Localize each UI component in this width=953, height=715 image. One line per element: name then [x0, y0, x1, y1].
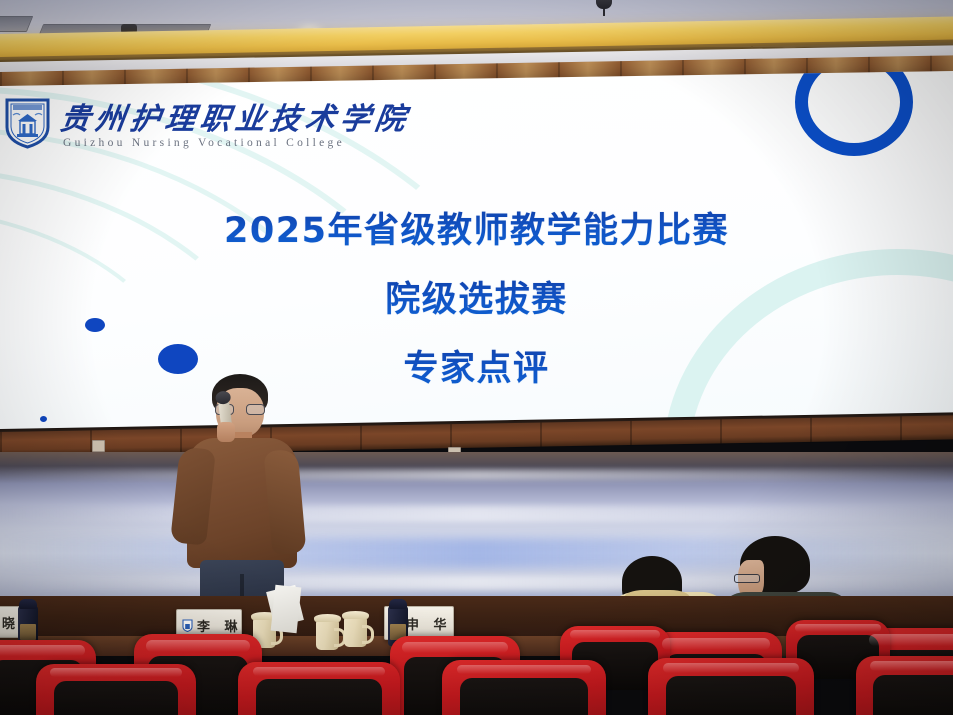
teacup	[316, 620, 339, 650]
auditorium-seat	[36, 664, 196, 715]
presenter-papers	[271, 585, 302, 633]
auditorium-seat	[238, 662, 400, 715]
projection-screen: 贵州护理职业技术学院 Guizhou Nursing Vocational Co…	[0, 71, 953, 439]
shield-crest-icon	[182, 619, 193, 632]
slide-titles: 2025年省级教师教学能力比赛 院级选拔赛 专家点评 2024.12.12	[0, 86, 953, 439]
presenter-hand	[217, 422, 235, 442]
auditorium-seat	[856, 656, 953, 715]
teacup	[344, 617, 367, 647]
auditorium-seat	[648, 658, 814, 715]
glasses-icon	[734, 574, 760, 583]
auditorium-seat	[442, 660, 606, 715]
slide-title-line-2: 院级选拔赛	[0, 271, 953, 322]
slide-title-line-3: 专家点评	[0, 340, 953, 391]
nameplate-label: 申 华	[406, 614, 452, 633]
auditorium-photo: 贵州护理职业技术学院 Guizhou Nursing Vocational Co…	[0, 0, 953, 715]
wall-outlet	[92, 440, 105, 452]
slide-title-line-1: 2025年省级教师教学能力比赛	[0, 202, 953, 253]
nameplate-label: 李 琳	[197, 616, 243, 635]
